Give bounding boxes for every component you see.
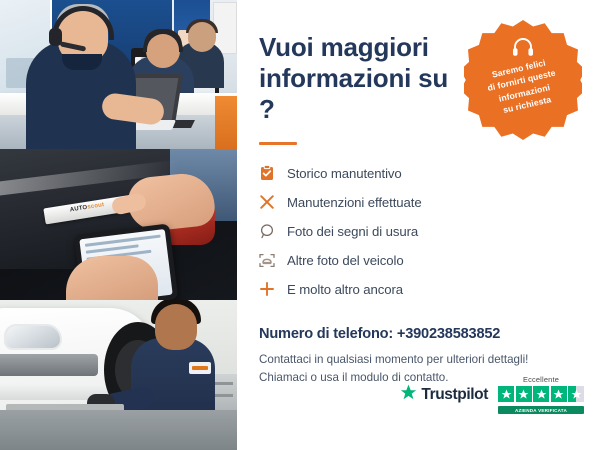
list-item: Foto dei segni di usura xyxy=(259,217,578,246)
car-scan-frame-icon xyxy=(259,252,275,268)
promo-banner: AUTOscout xyxy=(0,0,600,450)
list-item: E molto altro ancora xyxy=(259,275,578,304)
feature-label: Foto dei segni di usura xyxy=(287,224,418,239)
page-title-line-1: Vuoi maggiori xyxy=(259,32,429,62)
star-filled xyxy=(551,386,567,402)
clipboard-check-icon xyxy=(259,165,275,181)
feature-label: Storico manutentivo xyxy=(287,166,402,181)
star-rating xyxy=(498,386,584,402)
contact-text-line-1: Contattaci in qualsiasi momento per ulte… xyxy=(259,351,578,369)
foreground-agent xyxy=(26,40,136,149)
verified-business-badge: AZIENDA VERIFICATA xyxy=(498,406,584,414)
phone-line: Numero di telefono: +390238583852 xyxy=(259,326,578,342)
phone-number[interactable]: +390238583852 xyxy=(397,326,500,342)
feature-label: Manutenzioni effettuate xyxy=(287,195,422,210)
trustpilot-rating: Eccellente AZIENDA VERIFICATA xyxy=(498,375,584,414)
tools-wrench-screwdriver-icon xyxy=(259,194,275,210)
callout-badge: Saremo felici di fornirti queste informa… xyxy=(464,20,582,140)
trustpilot-brand: Trustpilot xyxy=(400,384,488,406)
star-filled xyxy=(498,386,514,402)
trustpilot-star-icon xyxy=(400,384,417,406)
trustpilot-wordmark: Trustpilot xyxy=(421,386,488,404)
page-title-line-2: informazioni su ? xyxy=(259,63,448,124)
car-headlight xyxy=(4,324,62,350)
rating-label: Eccellente xyxy=(523,375,559,384)
magnifier-icon xyxy=(259,223,275,239)
title-divider xyxy=(259,142,297,145)
garage-floor xyxy=(0,410,237,450)
list-item: Manutenzioni effettuate xyxy=(259,188,578,217)
star-half xyxy=(568,386,584,402)
trustpilot-widget[interactable]: Trustpilot Eccellente AZIENDA VERIFICATA xyxy=(400,375,584,414)
mechanic-tire-inspection-photo xyxy=(0,300,237,450)
plus-icon xyxy=(259,281,275,297)
page-title: Vuoi maggiori informazioni su ? xyxy=(259,32,459,126)
call-center-agents-photo xyxy=(0,0,237,149)
car-grille xyxy=(0,354,98,376)
photo-column: AUTOscout xyxy=(0,0,237,450)
headset-icon xyxy=(512,37,534,62)
list-item: Altre foto del veicolo xyxy=(259,246,578,275)
orange-equipment xyxy=(215,96,237,149)
star-filled xyxy=(516,386,532,402)
phone-label: Numero di telefono: xyxy=(259,326,393,342)
feature-list: Storico manutentivo Manutenzioni effettu… xyxy=(259,159,578,304)
list-item: Storico manutentivo xyxy=(259,159,578,188)
info-panel: Saremo felici di fornirti queste informa… xyxy=(237,0,600,450)
star-filled xyxy=(533,386,549,402)
feature-label: Altre foto del veicolo xyxy=(287,253,404,268)
hand-holding-tablet xyxy=(66,256,158,300)
vehicle-inspection-tablet-photo: AUTOscout xyxy=(0,149,237,300)
feature-label: E molto altro ancora xyxy=(287,282,403,297)
